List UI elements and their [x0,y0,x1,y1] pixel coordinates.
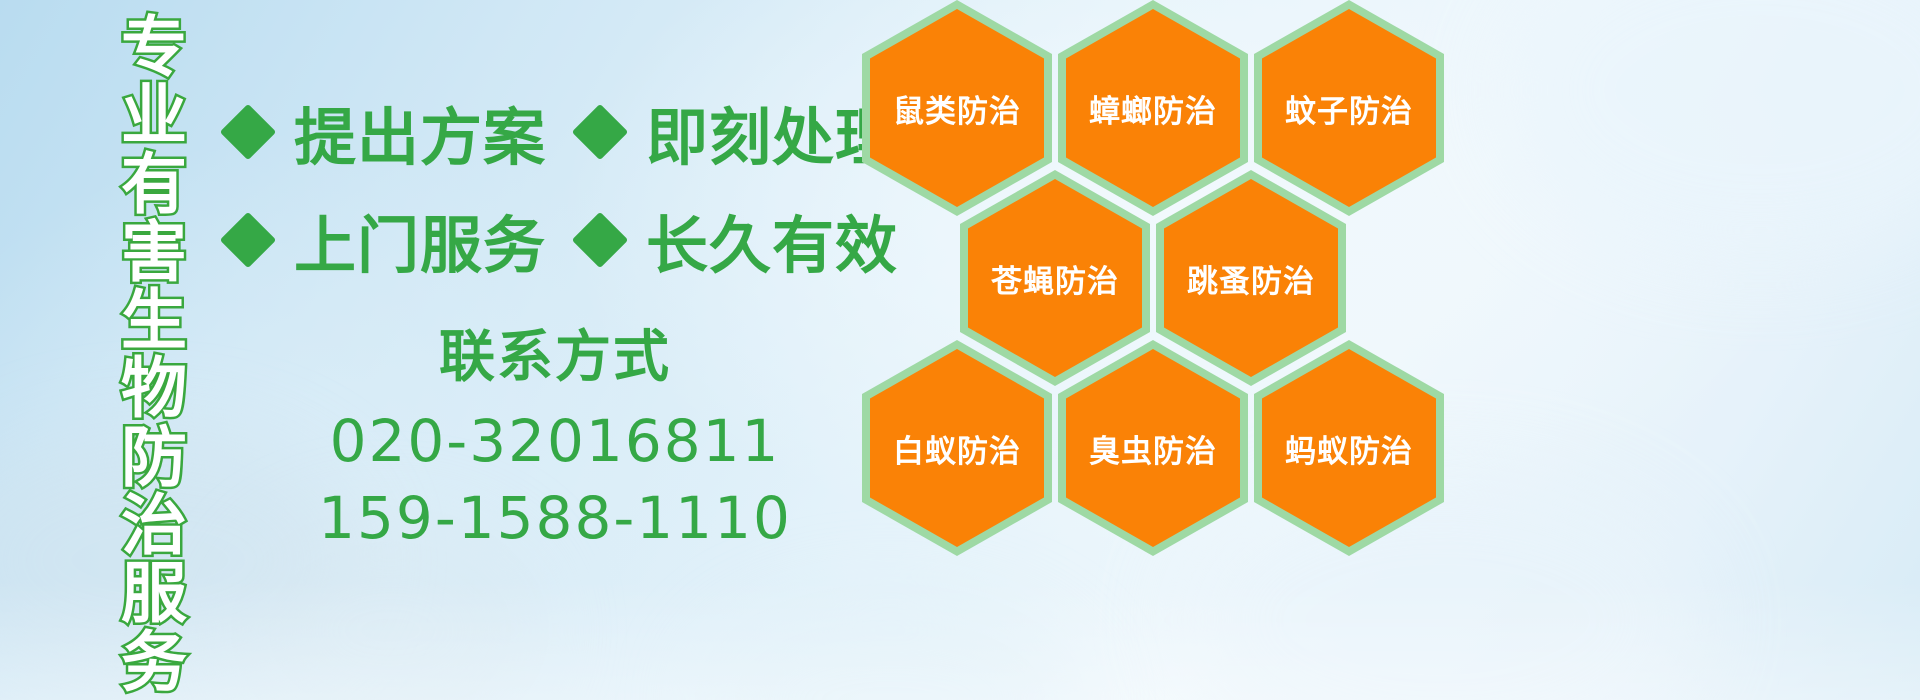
hex-inner: 蚊子防治 [1262,9,1436,207]
feature-row: 提出方案 即刻处理 [228,78,898,186]
hex-inner: 白蚁防治 [870,349,1044,547]
feature-list: 提出方案 即刻处理 上门服务 长久有效 [228,78,898,294]
hex-inner: 苍蝇防治 [968,179,1142,377]
service-hex-flea[interactable]: 跳蚤防治 [1156,170,1346,386]
service-hex-cockroach[interactable]: 蟑螂防治 [1058,0,1248,216]
feature-label: 上门服务 [294,195,546,285]
diamond-icon [220,212,277,269]
service-hex-bedbug[interactable]: 臭虫防治 [1058,340,1248,556]
background-highlight [0,580,1920,700]
service-hex-label: 蟑螂防治 [1089,86,1217,131]
service-hex-termite[interactable]: 白蚁防治 [862,340,1052,556]
hex-inner: 蚂蚁防治 [1262,349,1436,547]
headline-char: 业 [104,82,204,150]
headline-char: 物 [104,355,204,423]
headline-char: 防 [104,424,204,492]
service-hex-label: 苍蝇防治 [991,256,1119,301]
hex-inner: 跳蚤防治 [1164,179,1338,377]
vertical-headline: 专 业 有 害 生 物 防 治 服 务 [104,14,204,697]
hex-inner: 蟑螂防治 [1066,9,1240,207]
hex-inner: 鼠类防治 [870,9,1044,207]
feature-label: 提出方案 [294,87,546,177]
headline-char: 害 [104,219,204,287]
hex-inner: 臭虫防治 [1066,349,1240,547]
diamond-icon [220,104,277,161]
phone-number-landline[interactable]: 020-32016811 [250,403,860,480]
background-blob [1500,0,1920,260]
headline-char: 服 [104,560,204,628]
headline-char: 务 [104,629,204,697]
service-hex-label: 鼠类防治 [893,86,1021,131]
service-hex-label: 臭虫防治 [1089,426,1217,471]
headline-char: 有 [104,151,204,219]
feature-item: 提出方案 [228,87,546,177]
diamond-icon [572,212,629,269]
headline-char: 生 [104,287,204,355]
diamond-icon [572,104,629,161]
feature-row: 上门服务 长久有效 [228,186,898,294]
service-hex-rodent[interactable]: 鼠类防治 [862,0,1052,216]
service-hex-label: 蚂蚁防治 [1285,426,1413,471]
feature-item: 即刻处理 [580,87,898,177]
headline-char: 专 [104,14,204,82]
service-hex-label: 跳蚤防治 [1187,256,1315,301]
contact-block: 联系方式 020-32016811 159-1588-1110 [250,312,860,556]
service-hex-label: 蚊子防治 [1285,86,1413,131]
service-hex-label: 白蚁防治 [893,426,1021,471]
feature-item: 上门服务 [228,195,546,285]
phone-number-mobile[interactable]: 159-1588-1110 [250,480,860,557]
feature-item: 长久有效 [580,195,898,285]
feature-label: 即刻处理 [646,87,898,177]
headline-char: 治 [104,492,204,560]
contact-title: 联系方式 [250,312,860,393]
service-hex-mosquito[interactable]: 蚊子防治 [1254,0,1444,216]
service-hex-ant[interactable]: 蚂蚁防治 [1254,340,1444,556]
service-hex-fly[interactable]: 苍蝇防治 [960,170,1150,386]
feature-label: 长久有效 [646,195,898,285]
pest-control-banner: 专 业 有 害 生 物 防 治 服 务 提出方案 即刻处理 上门服务 [0,0,1920,700]
service-honeycomb: 鼠类防治 蟑螂防治 蚊子防治 苍蝇防治 跳蚤防治 白蚁防治 [862,0,1462,554]
